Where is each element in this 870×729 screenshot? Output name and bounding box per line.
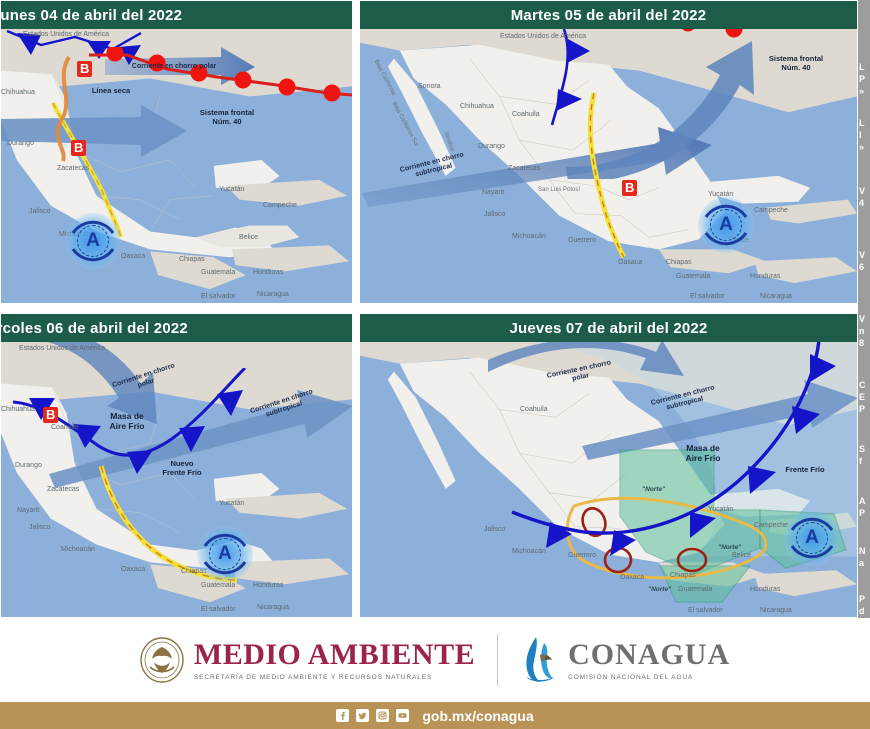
low-pressure-marker-b1: B <box>43 407 58 423</box>
low-pressure-marker-b2: B <box>622 180 637 196</box>
high-pressure-letter: A <box>698 197 754 253</box>
forecast-panel-lunes[interactable]: Estados Unidos de América Chihuahua Dura… <box>0 0 353 304</box>
semarnat-main-title: MEDIO AMBIENTE <box>194 640 475 670</box>
forecast-panel-miercoles[interactable]: Estados Unidos de América Chihuahua Coah… <box>0 313 353 618</box>
high-pressure-marker-a: A <box>698 197 754 253</box>
sidebar-fragment-3: L <box>859 118 865 128</box>
high-pressure-letter: A <box>197 526 253 582</box>
sidebar-fragment-23: d <box>859 606 865 616</box>
sidebar-fragment-15: P <box>859 404 865 414</box>
sidebar-fragment-12: 8 <box>859 338 864 348</box>
high-pressure-marker-a: A <box>65 213 121 269</box>
sidebar-fragment-1: P <box>859 74 865 84</box>
sidebar-fragment-16: S <box>859 444 865 454</box>
sidebar-fragment-13: C <box>859 380 866 390</box>
sidebar-fragment-11: n <box>859 326 865 336</box>
map-graphic-miercoles <box>1 314 352 617</box>
forecast-panel-jueves[interactable]: Coahuila Jalisco Michoacán Guerrero Oaxa… <box>359 313 858 618</box>
sidebar-fragment-9: 6 <box>859 262 864 272</box>
conagua-main-title: CONAGUA <box>568 640 730 670</box>
conagua-eagle-water-icon <box>520 635 558 685</box>
panel-title-jueves: Jueves 07 de abril del 2022 <box>360 314 857 342</box>
sidebar-fragment-0: L <box>859 62 865 72</box>
sidebar-fragment-19: P <box>859 508 865 518</box>
sidebar-fragment-6: V <box>859 186 865 196</box>
footer-social-bar: gob.mx/conagua <box>0 702 870 729</box>
youtube-icon[interactable] <box>396 709 409 722</box>
low-pressure-marker-b1: B <box>77 61 92 77</box>
clipped-text-sidebar: L P » L l » V 4 V 6 V n 8 C E P S f A P … <box>858 0 870 618</box>
low-pressure-marker-b2: B <box>71 140 86 156</box>
panel-title-martes: Martes 05 de abril del 2022 <box>360 1 857 29</box>
conagua-wordmark: CONAGUA COMISIÓN NACIONAL DEL AGUA <box>520 635 730 685</box>
sidebar-fragment-7: 4 <box>859 198 864 208</box>
high-pressure-letter: A <box>784 510 840 566</box>
sidebar-fragment-4: l <box>859 130 862 140</box>
panel-title-miercoles: Miércoles 06 de abril del 2022 <box>1 314 352 342</box>
logo-divider <box>497 634 498 686</box>
sidebar-fragment-20: N <box>859 546 866 556</box>
sidebar-fragment-5: » <box>859 142 864 152</box>
forecast-panel-grid: Estados Unidos de América Chihuahua Dura… <box>0 0 858 618</box>
high-pressure-marker-a: A <box>784 510 840 566</box>
sidebar-fragment-10: V <box>859 314 865 324</box>
map-graphic-lunes <box>1 1 352 303</box>
sidebar-fragment-17: f <box>859 456 862 466</box>
facebook-icon[interactable] <box>336 709 349 722</box>
gob-mx-url[interactable]: gob.mx/conagua <box>422 708 533 724</box>
map-graphic-martes <box>360 1 857 303</box>
semarnat-subtitle: SECRETARÍA DE MEDIO AMBIENTE Y RECURSOS … <box>194 674 475 681</box>
weather-forecast-infographic: Estados Unidos de América Chihuahua Dura… <box>0 0 870 729</box>
twitter-icon[interactable] <box>356 709 369 722</box>
sidebar-fragment-18: A <box>859 496 866 506</box>
high-pressure-marker-a: A <box>197 526 253 582</box>
map-graphic-jueves <box>360 314 857 617</box>
high-pressure-letter: A <box>65 213 121 269</box>
sidebar-fragment-21: a <box>859 558 864 568</box>
sidebar-fragment-8: V <box>859 250 865 260</box>
panel-title-lunes: Lunes 04 de abril del 2022 <box>1 1 352 29</box>
instagram-icon[interactable] <box>376 709 389 722</box>
sidebar-fragment-14: E <box>859 392 865 402</box>
sidebar-fragment-2: » <box>859 86 864 96</box>
footer-logo-band: MEDIO AMBIENTE SECRETARÍA DE MEDIO AMBIE… <box>0 618 870 702</box>
conagua-subtitle: COMISIÓN NACIONAL DEL AGUA <box>568 674 730 681</box>
mexico-coat-of-arms-icon <box>140 637 184 683</box>
sidebar-fragment-22: P <box>859 594 865 604</box>
semarnat-wordmark: MEDIO AMBIENTE SECRETARÍA DE MEDIO AMBIE… <box>194 640 475 681</box>
forecast-panel-martes[interactable]: Estados Unidos de América Sonora Chihuah… <box>359 0 858 304</box>
